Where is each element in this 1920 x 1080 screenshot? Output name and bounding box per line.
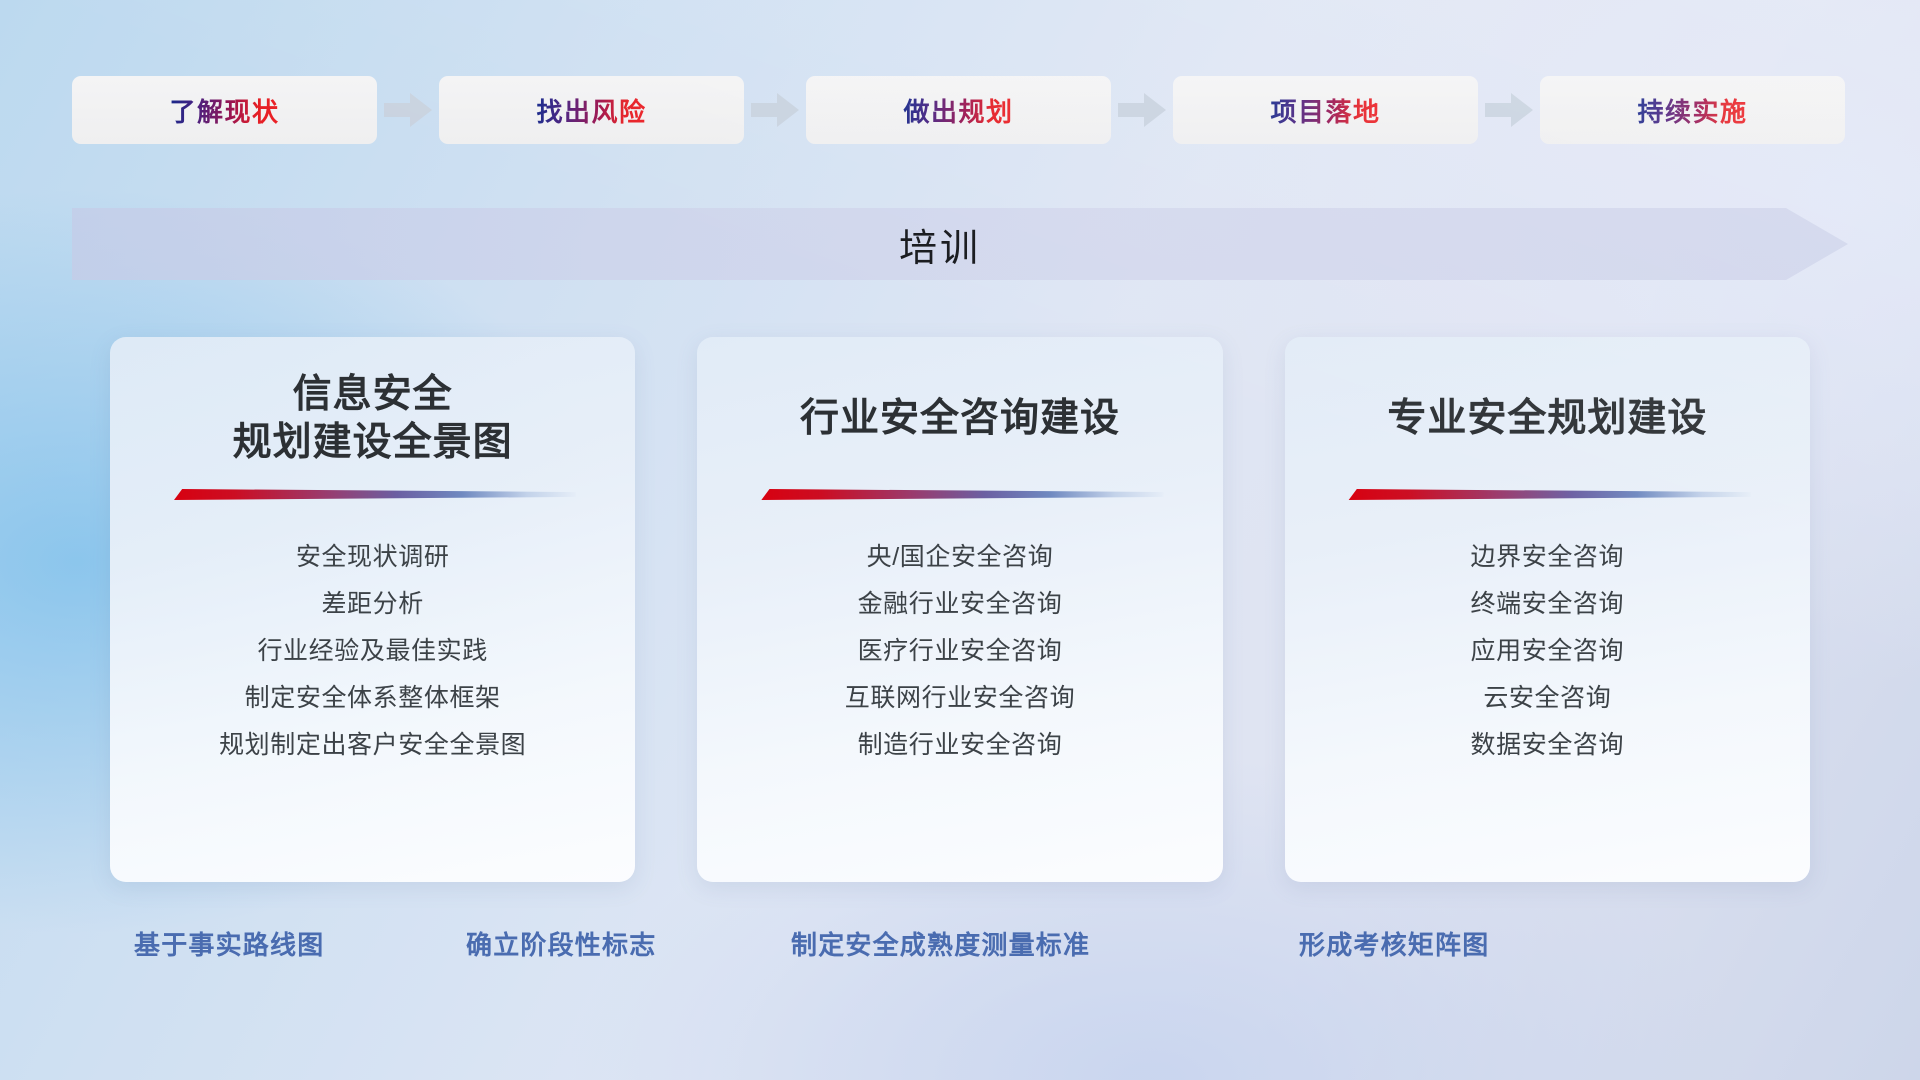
card-information-security-blueprint[interactable]: 信息安全 规划建设全景图 安全现状调研 差距分析 行业经验及最佳实践 制定安全体… xyxy=(110,337,635,882)
process-step-2[interactable]: 找出风险 xyxy=(439,76,744,144)
list-item: 云安全咨询 xyxy=(1311,675,1784,722)
list-item: 医疗行业安全咨询 xyxy=(723,628,1196,675)
process-step-row: 了解现状 找出风险 做出规划 项目落地 持续实施 xyxy=(72,76,1848,144)
card-industry-security-consulting[interactable]: 行业安全咨询建设 央/国企安全咨询 金融行业安全咨询 医疗行业安全咨询 互联网行… xyxy=(697,337,1222,882)
process-step-label: 项目落地 xyxy=(1270,92,1380,129)
card-title: 专业安全规划建设 xyxy=(1311,371,1784,467)
process-step-1[interactable]: 了解现状 xyxy=(72,76,377,144)
card-item-list: 安全现状调研 差距分析 行业经验及最佳实践 制定安全体系整体框架 规划制定出客户… xyxy=(136,534,609,769)
list-item: 行业经验及最佳实践 xyxy=(136,628,609,675)
process-step-label: 持续实施 xyxy=(1637,92,1747,129)
caption-row: 基于事实路线图 确立阶段性标志 制定安全成熟度测量标准 形成考核矩阵图 xyxy=(0,925,1920,971)
list-item: 数据安全咨询 xyxy=(1311,722,1784,769)
list-item: 安全现状调研 xyxy=(136,534,609,581)
caption-roadmap: 基于事实路线图 xyxy=(134,925,324,962)
caption-milestones: 确立阶段性标志 xyxy=(466,925,656,962)
banner-title: 培训 xyxy=(72,208,1848,280)
card-professional-security-planning[interactable]: 专业安全规划建设 边界安全咨询 终端安全咨询 应用安全咨询 云安全咨询 数据安全… xyxy=(1285,337,1810,882)
list-item: 规划制定出客户安全全景图 xyxy=(136,722,609,769)
slide-canvas: 了解现状 找出风险 做出规划 项目落地 持续实施 培训 xyxy=(0,0,1920,1080)
caption-assessment-matrix: 形成考核矩阵图 xyxy=(1299,925,1489,962)
list-item: 应用安全咨询 xyxy=(1311,628,1784,675)
chevron-right-arrow-icon xyxy=(744,76,806,144)
caption-maturity-scale: 制定安全成熟度测量标准 xyxy=(791,925,1090,962)
list-item: 边界安全咨询 xyxy=(1311,534,1784,581)
list-item: 互联网行业安全咨询 xyxy=(723,675,1196,722)
card-title-line: 行业安全咨询建设 xyxy=(723,395,1196,443)
list-item: 终端安全咨询 xyxy=(1311,581,1784,628)
card-accent-underline xyxy=(1344,489,1751,500)
process-step-4[interactable]: 项目落地 xyxy=(1173,76,1478,144)
list-item: 金融行业安全咨询 xyxy=(723,581,1196,628)
process-step-label: 做出规划 xyxy=(903,92,1013,129)
card-title-line: 规划建设全景图 xyxy=(136,419,609,467)
list-item: 制定安全体系整体框架 xyxy=(136,675,609,722)
list-item: 央/国企安全咨询 xyxy=(723,534,1196,581)
process-step-3[interactable]: 做出规划 xyxy=(806,76,1111,144)
chevron-right-arrow-icon xyxy=(1111,76,1173,144)
list-item: 制造行业安全咨询 xyxy=(723,722,1196,769)
card-row: 信息安全 规划建设全景图 安全现状调研 差距分析 行业经验及最佳实践 制定安全体… xyxy=(110,337,1810,882)
chevron-right-arrow-icon xyxy=(377,76,439,144)
list-item: 差距分析 xyxy=(136,581,609,628)
card-title: 信息安全 规划建设全景图 xyxy=(136,371,609,467)
card-title-line: 信息安全 xyxy=(136,371,609,419)
process-step-label: 了解现状 xyxy=(169,92,279,129)
process-step-label: 找出风险 xyxy=(536,92,646,129)
card-title-line: 专业安全规划建设 xyxy=(1311,395,1784,443)
card-item-list: 央/国企安全咨询 金融行业安全咨询 医疗行业安全咨询 互联网行业安全咨询 制造行… xyxy=(723,534,1196,769)
card-title: 行业安全咨询建设 xyxy=(723,371,1196,467)
process-step-5[interactable]: 持续实施 xyxy=(1540,76,1845,144)
training-banner: 培训 xyxy=(72,208,1848,280)
card-accent-underline xyxy=(756,489,1163,500)
chevron-right-arrow-icon xyxy=(1478,76,1540,144)
card-item-list: 边界安全咨询 终端安全咨询 应用安全咨询 云安全咨询 数据安全咨询 xyxy=(1311,534,1784,769)
card-accent-underline xyxy=(169,489,576,500)
